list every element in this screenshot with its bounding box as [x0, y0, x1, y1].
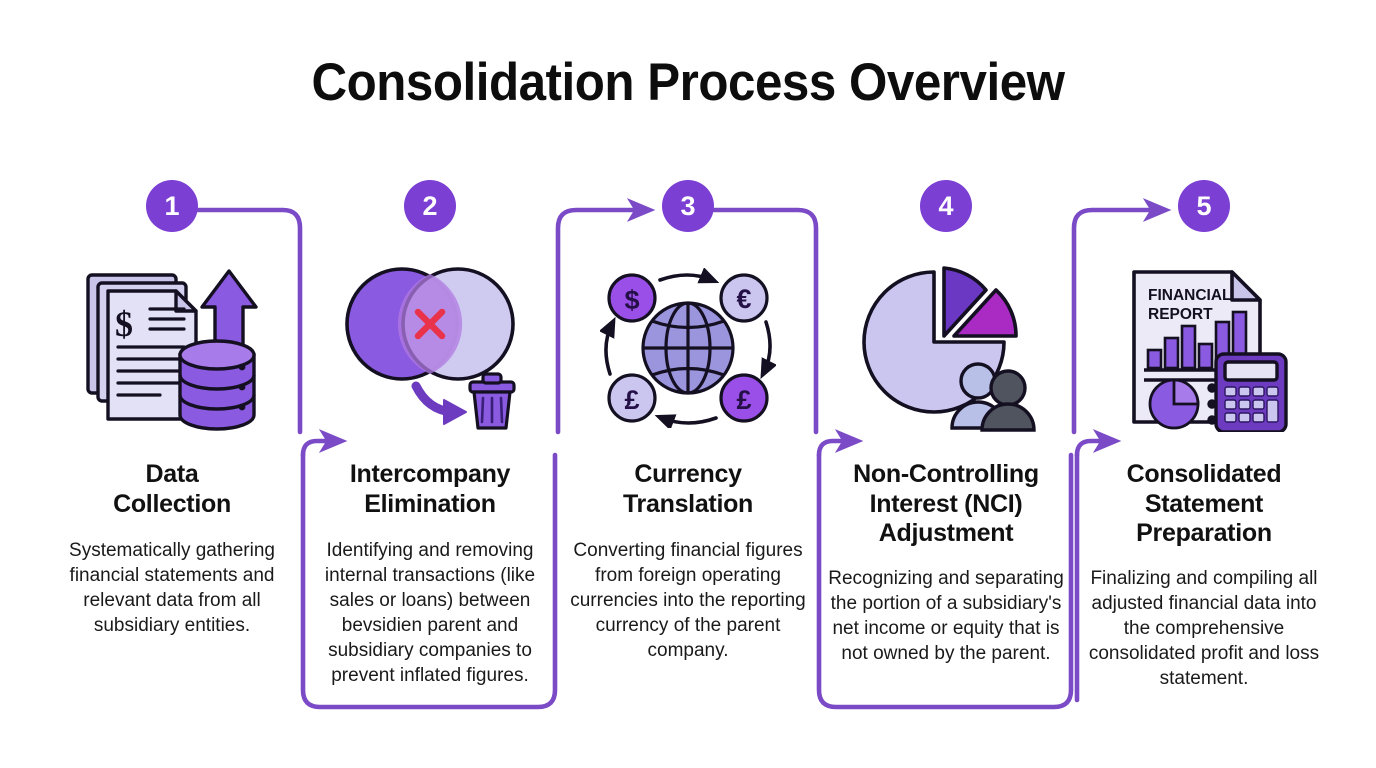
step-card-2[interactable]: 2 — [301, 170, 559, 750]
step-title-2-line2: Elimination — [364, 490, 495, 518]
step-title-1: Data Collection — [51, 460, 293, 519]
step-title-4: Non-Controlling Interest (NCI) Adjustmen… — [821, 460, 1071, 549]
documents-database-icon: $ — [43, 260, 301, 435]
step-number-badge-4: 4 — [920, 180, 972, 232]
currency-symbol-pound-right: £ — [736, 385, 751, 415]
step-card-1[interactable]: 1 $ — [43, 170, 301, 750]
financial-report-calculator-icon: FINANCIAL REPORT — [1075, 260, 1333, 435]
step-title-5: Consolidated Statement Preparation — [1079, 460, 1329, 549]
page-title: Consolidation Process Overview — [48, 52, 1328, 113]
step-number-badge-3: 3 — [662, 180, 714, 232]
infographic-canvas: Consolidation Process Overview — [0, 0, 1376, 768]
report-heading-line1: FINANCIAL — [1148, 287, 1232, 304]
step-description-3: Converting financial figures from foreig… — [565, 538, 811, 663]
svg-text:$: $ — [115, 304, 133, 344]
step-title-4-line3: Adjustment — [879, 519, 1014, 547]
step-title-5-line2: Statement — [1145, 490, 1263, 518]
step-card-3[interactable]: 3 $ € — [559, 170, 817, 750]
step-description-5: Finalizing and compiling all adjusted fi… — [1081, 566, 1327, 691]
step-number-badge-5: 5 — [1178, 180, 1230, 232]
step-description-4: Recognizing and separating the portion o… — [823, 566, 1069, 666]
step-title-2: Intercompany Elimination — [309, 460, 551, 519]
step-title-5-line3: Preparation — [1136, 519, 1272, 547]
step-title-5-line1: Consolidated — [1127, 460, 1282, 488]
step-card-4[interactable]: 4 Non-Controlling Interest (NCI) Adjustm… — [817, 170, 1075, 750]
currency-symbol-pound-left: £ — [624, 385, 639, 415]
step-title-4-line2: Interest (NCI) — [870, 490, 1023, 518]
step-number-badge-2: 2 — [404, 180, 456, 232]
step-title-3-line2: Translation — [623, 490, 753, 518]
step-title-1-line2: Collection — [113, 490, 231, 518]
step-title-3: Currency Translation — [567, 460, 809, 519]
step-description-2: Identifying and removing internal transa… — [307, 538, 553, 688]
step-title-3-line1: Currency — [634, 460, 741, 488]
step-number-badge-1: 1 — [146, 180, 198, 232]
step-card-5[interactable]: 5 FINANCIAL REPORT — [1075, 170, 1333, 750]
venn-diagram-trash-icon — [301, 260, 559, 435]
currency-symbol-dollar: $ — [624, 285, 639, 315]
step-title-1-line1: Data — [146, 460, 199, 488]
globe-currency-exchange-icon: $ € £ £ — [559, 260, 817, 435]
report-heading-line2: REPORT — [1148, 306, 1213, 323]
step-title-4-line1: Non-Controlling — [853, 460, 1039, 488]
step-title-2-line1: Intercompany — [350, 460, 510, 488]
pie-chart-people-icon — [817, 260, 1075, 435]
step-description-1: Systematically gathering financial state… — [49, 538, 295, 638]
currency-symbol-euro: € — [736, 284, 751, 314]
